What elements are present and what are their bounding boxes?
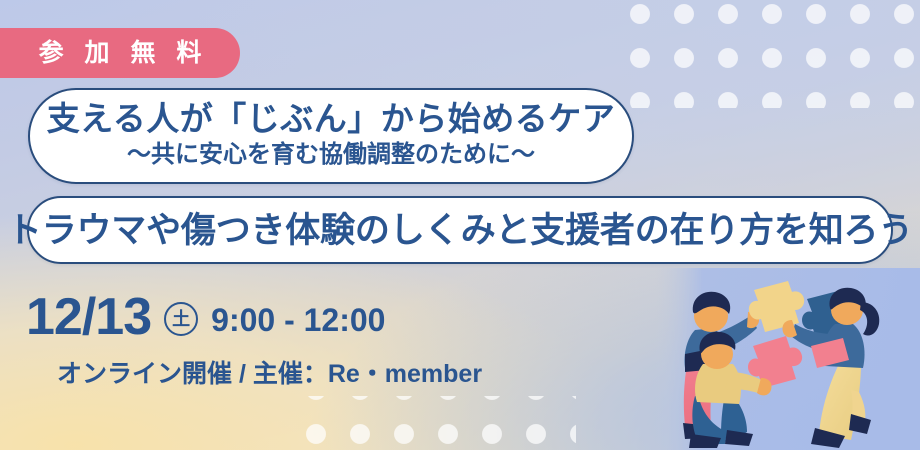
title-pill-secondary: トラウマや傷つき体験のしくみと支援者の在り方を知ろう [27,196,893,264]
free-admission-badge-label: 参 加 無 料 [32,41,209,66]
schedule-row: 12/13 土 9:00 - 12:00 [26,291,385,343]
title-secondary-main: トラウマや傷つき体験のしくみと支援者の在り方を知ろう [7,213,913,248]
venue-and-organizer: オンライン開催 / 主催：Re・member [57,362,482,387]
event-time: 9:00 - 12:00 [211,304,385,336]
title-pill-primary: 支える人が「じぶん」から始めるケア 〜共に安心を育む協働調整のために〜 [28,88,634,184]
dot-pattern-top-right [612,0,920,108]
teamwork-puzzle-illustration [655,268,920,450]
free-admission-badge: 参 加 無 料 [0,28,240,78]
event-banner: 参 加 無 料 支える人が「じぶん」から始めるケア 〜共に安心を育む協働調整のた… [0,0,920,450]
title-primary-sub: 〜共に安心を育む協働調整のために〜 [127,141,535,170]
dot-pattern-bottom-center [286,396,576,450]
title-primary-main: 支える人が「じぶん」から始めるケア [47,101,616,138]
weekday-circle-badge: 土 [164,302,198,336]
weekday-label: 土 [172,310,190,328]
event-date: 12/13 [26,291,151,343]
